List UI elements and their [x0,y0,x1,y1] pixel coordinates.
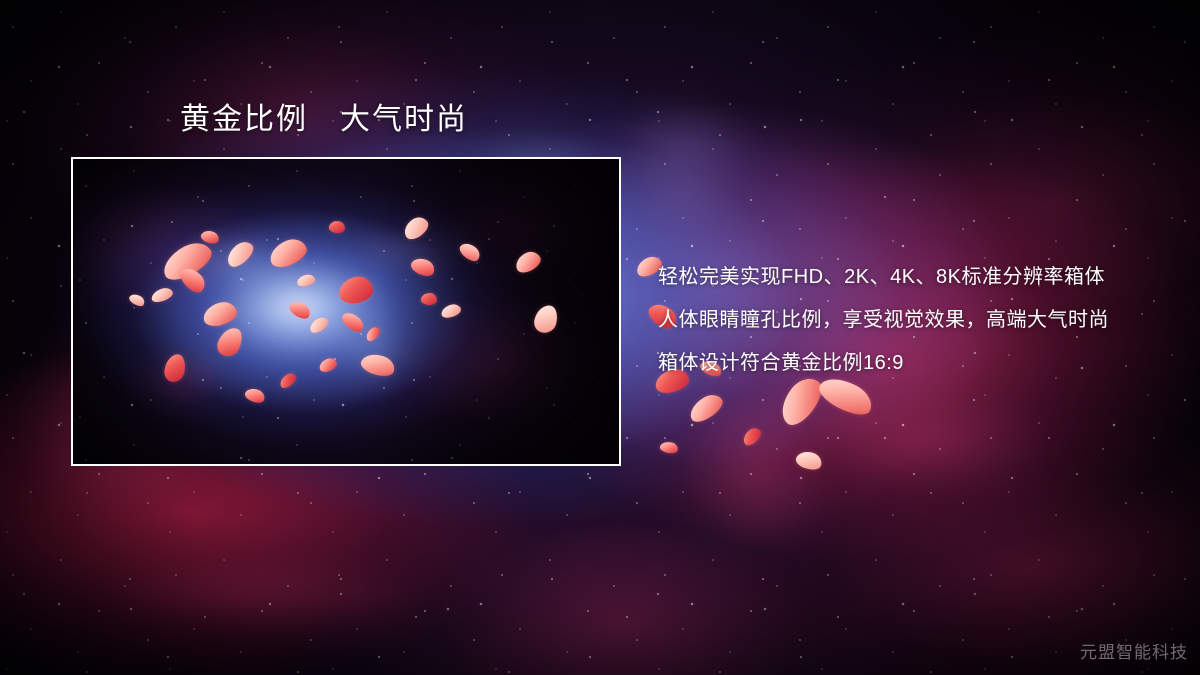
body-copy: 轻松完美实现FHD、2K、4K、8K标准分辨率箱体 人体眼睛瞳孔比例，享受视觉效… [658,256,1178,385]
screen-frame-panel [71,157,621,466]
body-line: 箱体设计符合黄金比例16:9 [658,342,1178,385]
rose-petal [794,448,824,472]
page-title: 黄金比例 大气时尚 [180,102,468,138]
presentation-slide: 黄金比例 大气时尚 轻松完美实现FHD、2K、4K、8K标准分辨率箱体 人体眼睛… [0,0,1200,675]
body-line: 人体眼睛瞳孔比例，享受视觉效果，高端大气时尚 [658,299,1178,342]
rose-petal [659,440,679,455]
rose-petal [685,390,726,426]
body-line: 轻松完美实现FHD、2K、4K、8K标准分辨率箱体 [658,256,1178,299]
company-watermark: 元盟智能科技 [1080,638,1188,663]
rose-petal [740,425,764,448]
